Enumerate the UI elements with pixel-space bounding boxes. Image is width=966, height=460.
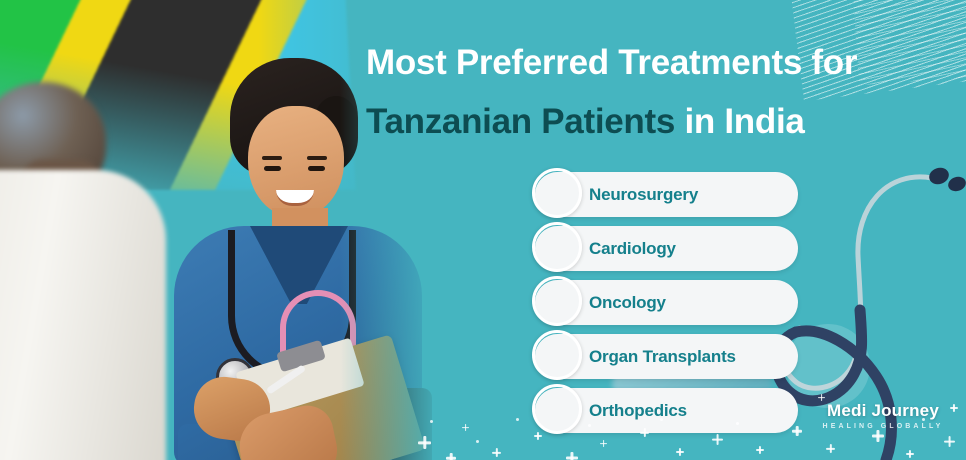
list-item[interactable]: Cardiology — [535, 226, 798, 271]
patient-photo — [0, 82, 180, 460]
list-item[interactable]: Oncology — [535, 280, 798, 325]
doctor-eyebrow-left — [262, 156, 282, 160]
page-title: Most Preferred Treatments for Tanzanian … — [366, 33, 956, 151]
sparkle-dot-icon — [516, 418, 519, 421]
list-item-label: Organ Transplants — [589, 347, 736, 367]
brand-logo[interactable]: Medi Journey HEALING GLOBALLY — [808, 401, 958, 430]
list-item-label: Cardiology — [589, 239, 676, 259]
doctor-eyebrow-right — [307, 156, 327, 160]
patient-shirt — [0, 170, 166, 460]
organ-transplants-thumbnail-icon — [532, 330, 582, 380]
list-item[interactable]: Neurosurgery — [535, 172, 798, 217]
neurosurgery-thumbnail-icon — [532, 168, 582, 218]
headline-rest: in India — [675, 102, 805, 141]
headline-line-2: Tanzanian Patients in India — [366, 92, 956, 151]
brand-tagline: HEALING GLOBALLY — [808, 423, 958, 430]
list-item-label: Oncology — [589, 293, 666, 313]
brand-name: Medi Journey — [808, 401, 958, 421]
orthopedics-thumbnail-icon — [532, 384, 582, 434]
list-item[interactable]: Orthopedics — [535, 388, 798, 433]
sparkle-plus-icon — [872, 430, 884, 442]
sparkle-plus-icon — [492, 448, 501, 457]
sparkle-plus-icon — [906, 450, 914, 458]
sparkle-plus-icon — [756, 446, 764, 454]
oncology-thumbnail-icon — [532, 276, 582, 326]
treatments-list: Neurosurgery Cardiology Oncology Organ T… — [535, 172, 815, 442]
sparkle-plus-icon — [676, 448, 684, 456]
sparkle-plus-icon — [566, 452, 578, 460]
list-item[interactable]: Organ Transplants — [535, 334, 798, 379]
headline-highlight: Tanzanian Patients — [366, 102, 675, 141]
banner: Most Preferred Treatments for Tanzanian … — [0, 0, 966, 460]
sparkle-dot-icon — [476, 440, 479, 443]
cardiology-thumbnail-icon — [532, 222, 582, 272]
list-item-label: Orthopedics — [589, 401, 687, 421]
doctor-eye-left — [264, 166, 281, 171]
list-item-label: Neurosurgery — [589, 185, 698, 205]
doctor-eye-right — [308, 166, 325, 171]
headline-line-1: Most Preferred Treatments for — [366, 33, 956, 92]
sparkle-plus-icon — [826, 444, 835, 453]
sparkle-plus-icon — [944, 436, 955, 447]
